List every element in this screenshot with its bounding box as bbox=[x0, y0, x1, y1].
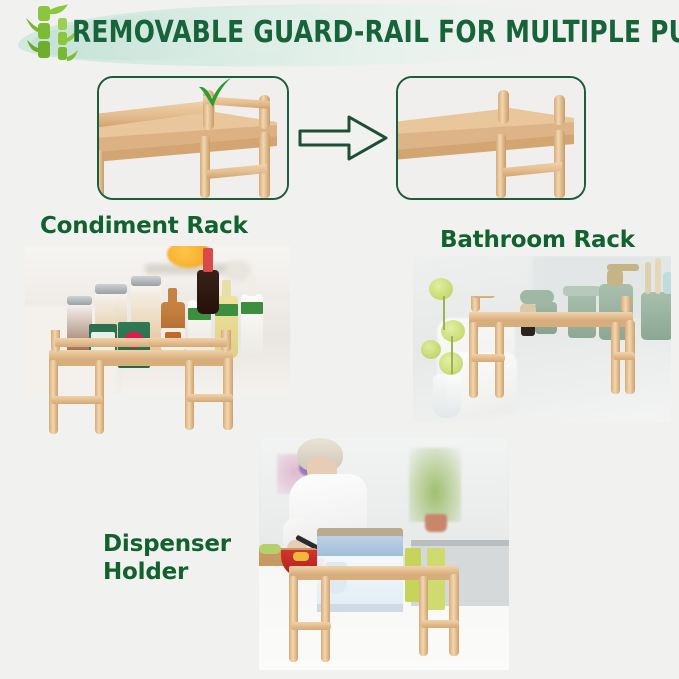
section-label-dispenser-line1: Dispenser bbox=[103, 531, 231, 557]
condiment-rack-frame bbox=[25, 330, 290, 440]
header-banner: REMOVABLE GUARD-RAIL FOR MULTIPLE PURPOS… bbox=[0, 0, 679, 72]
section-label-bathroom: Bathroom Rack bbox=[440, 226, 635, 254]
section-label-dispenser: Dispenser Holder bbox=[103, 530, 231, 586]
guard-rail-comparison bbox=[0, 72, 679, 202]
arrow-right-icon bbox=[297, 114, 389, 162]
product-infographic: REMOVABLE GUARD-RAIL FOR MULTIPLE PURPOS… bbox=[0, 0, 679, 679]
page-title: REMOVABLE GUARD-RAIL FOR MULTIPLE PURPOS… bbox=[72, 14, 679, 52]
rack-with-rail-illustration bbox=[99, 78, 287, 198]
panel-rack-with-rail bbox=[97, 76, 289, 200]
rack-without-rail-illustration bbox=[398, 78, 584, 198]
section-label-dispenser-line2: Holder bbox=[103, 559, 188, 585]
panel-rack-without-rail bbox=[396, 76, 586, 200]
check-icon bbox=[196, 78, 234, 108]
section-label-condiment: Condiment Rack bbox=[40, 212, 248, 240]
dispenser-rack-frame bbox=[259, 560, 509, 672]
bathroom-rack-frame bbox=[413, 296, 671, 426]
